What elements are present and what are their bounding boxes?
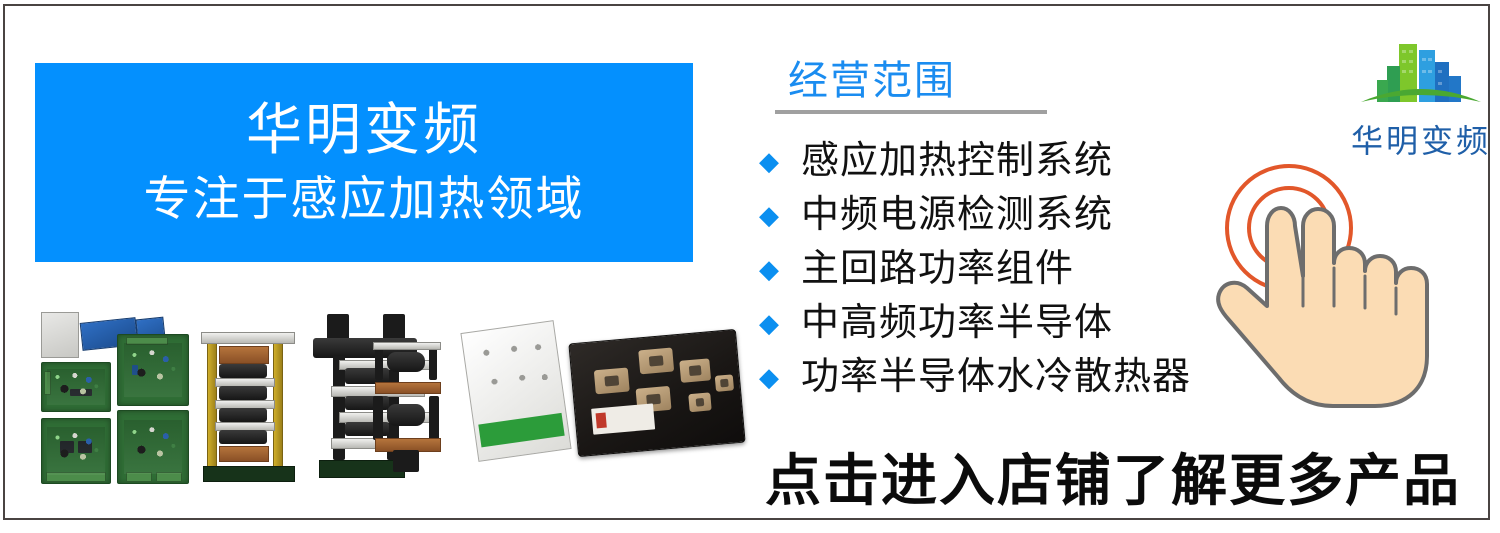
- pointing-hand-click-icon: [1203, 156, 1453, 426]
- diamond-bullet-icon: ◆: [759, 148, 801, 174]
- list-item: ◆ 主回路功率组件: [759, 242, 1279, 296]
- business-scope-list: ◆ 感应加热控制系统 ◆ 中频电源检测系统 ◆ 主回路功率组件 ◆ 中高频功率半…: [759, 134, 1279, 404]
- product-igbt-stack: [460, 320, 571, 462]
- product-photo-strip: [33, 298, 698, 493]
- diamond-bullet-icon: ◆: [759, 310, 801, 336]
- list-item-label: 主回路功率组件: [801, 250, 1074, 288]
- list-item-label: 感应加热控制系统: [801, 142, 1113, 180]
- product-pcb-board: [41, 362, 111, 412]
- company-logo: 华明变频: [1331, 36, 1500, 171]
- promotional-banner: 华明变频 专注于感应加热领域: [0, 0, 1500, 533]
- right-panel: 经营范围 ◆ 感应加热控制系统 ◆ 中频电源检测系统 ◆ 主回路功率组件 ◆ 中…: [723, 6, 1493, 526]
- cta-text[interactable]: 点击进入店铺了解更多产品: [737, 436, 1489, 517]
- business-scope-heading: 经营范围: [788, 48, 956, 106]
- product-pcb-board: [117, 334, 189, 406]
- brand-highlight-box: 华明变频 专注于感应加热领域: [35, 63, 693, 262]
- brand-name: 华明变频: [246, 100, 482, 160]
- building-skyline-logo-icon: [1359, 36, 1483, 114]
- product-relay-white: [41, 312, 79, 358]
- diamond-bullet-icon: ◆: [759, 256, 801, 282]
- list-item: ◆ 中频电源检测系统: [759, 188, 1279, 242]
- product-capacitor-stack: [201, 320, 306, 482]
- list-item: ◆ 功率半导体水冷散热器: [759, 350, 1279, 404]
- list-item-label: 中频电源检测系统: [801, 196, 1113, 234]
- product-igbt-power-module: [568, 329, 745, 457]
- list-item: ◆ 中高频功率半导体: [759, 296, 1279, 350]
- list-item-label: 中高频功率半导体: [801, 304, 1113, 342]
- banner-frame: 华明变频 专注于感应加热领域: [3, 4, 1490, 520]
- heading-divider: [775, 110, 1047, 114]
- diamond-bullet-icon: ◆: [759, 364, 801, 390]
- left-panel: 华明变频 专注于感应加热领域: [5, 6, 723, 526]
- product-pcb-board: [41, 418, 111, 484]
- list-item: ◆ 感应加热控制系统: [759, 134, 1279, 188]
- product-pcb-board: [117, 410, 189, 484]
- list-item-label: 功率半导体水冷散热器: [801, 358, 1191, 396]
- brand-tagline: 专注于感应加热领域: [144, 173, 585, 225]
- product-thyristor-assembly: [371, 334, 463, 482]
- diamond-bullet-icon: ◆: [759, 202, 801, 228]
